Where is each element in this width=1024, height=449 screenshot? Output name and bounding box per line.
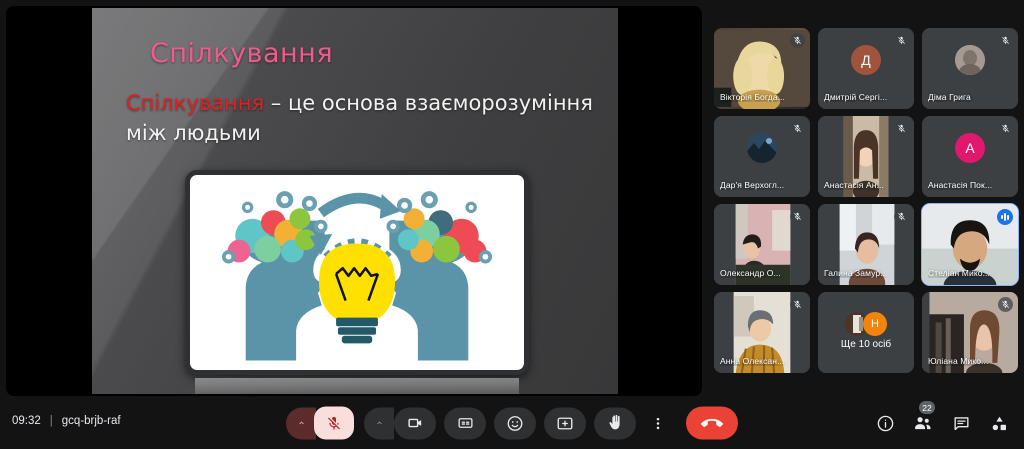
emoji-reactions-button[interactable] [494, 407, 536, 439]
more-options-button[interactable] [644, 407, 672, 439]
top-arrow-icon [321, 198, 388, 213]
participant-grid: Вікторія Богда... Д Дмитрій Сергі... [714, 28, 1018, 373]
people-icon [913, 413, 933, 433]
slide-illustration [185, 170, 529, 375]
avatar [747, 133, 777, 163]
slide-subtitle: Спілкування – це основа взаєморозуміння … [126, 88, 596, 148]
call-controls [286, 407, 738, 440]
more-vert-icon [650, 415, 666, 431]
participant-name: Анна Олексан... [720, 356, 794, 366]
communication-illustration-svg [190, 175, 524, 370]
meeting-time: 09:32 [12, 415, 41, 427]
mic-off-icon [894, 209, 909, 224]
slide-title: Спілкування [150, 38, 333, 69]
avatar-photo [747, 133, 777, 163]
participant-name: Дмитрій Сергі... [824, 92, 898, 102]
mic-options-chevron-button[interactable] [286, 407, 316, 439]
participant-tile[interactable]: Дар'я Верхогл... [714, 116, 810, 197]
show-everyone-button[interactable]: 22 [912, 412, 934, 434]
avatar: Д [851, 45, 881, 75]
meet-window: Спілкування Спілкування – це основа взає… [0, 0, 1024, 449]
participant-tile[interactable]: Галина Замур... [818, 204, 914, 285]
participant-tile[interactable]: Д Дмитрій Сергі... [818, 28, 914, 109]
participant-count-badge: 22 [919, 401, 935, 414]
chevron-up-icon [375, 419, 384, 428]
mic-off-icon [894, 121, 909, 136]
lightbulb-icon [319, 243, 395, 343]
slide-illustration-wrapper [185, 170, 529, 375]
chat-button[interactable] [950, 412, 972, 434]
emoji-smile-icon [506, 414, 524, 432]
participant-name: Діма Грига [928, 92, 1002, 102]
microphone-group [286, 407, 354, 440]
mic-off-icon [894, 33, 909, 48]
participant-tile[interactable]: Вікторія Богда... [714, 28, 810, 109]
illustration-reflection [195, 378, 519, 394]
speaking-indicator-icon [997, 209, 1013, 225]
closed-caption-icon [457, 415, 474, 432]
mic-off-icon [998, 33, 1013, 48]
meeting-details-button[interactable] [874, 412, 896, 434]
captions-button[interactable] [444, 407, 486, 439]
overflow-avatar-letter: Н [871, 318, 879, 330]
mic-off-icon [998, 121, 1013, 136]
participant-tile[interactable]: Діма Грига [922, 28, 1018, 109]
mic-off-icon [790, 33, 805, 48]
participant-tile[interactable]: А Анастасія Пок... [922, 116, 1018, 197]
activities-button[interactable] [988, 412, 1010, 434]
camera-options-chevron-button[interactable] [364, 407, 394, 439]
presentation-slide: Спілкування Спілкування – це основа взає… [92, 8, 618, 394]
overflow-avatar-initial: Н [863, 312, 887, 336]
mic-off-icon [790, 121, 805, 136]
present-to-all-icon [556, 414, 574, 432]
mic-off-icon [998, 297, 1013, 312]
end-call-icon [701, 412, 723, 434]
participant-name: Анастасія Ан... [824, 180, 898, 190]
meeting-code: gcq-brjb-raf [62, 415, 121, 427]
participant-name: Стеліан Мико... [928, 268, 1002, 278]
raise-hand-button[interactable] [594, 407, 636, 439]
participant-tile[interactable]: Олександр О... [714, 204, 810, 285]
bottom-bar: 09:32 | gcq-brjb-raf [0, 397, 1024, 449]
mic-off-icon [326, 415, 342, 431]
participant-name: Юліана Мико... [928, 356, 1002, 366]
microphone-muted-button[interactable] [314, 407, 354, 440]
participant-overflow-tile[interactable]: Н Ще 10 осіб [818, 292, 914, 373]
video-camera-icon [407, 415, 424, 432]
meta-separator: | [50, 415, 53, 427]
present-screen-button[interactable] [544, 407, 586, 439]
mic-off-icon [790, 297, 805, 312]
participant-tile[interactable]: Анна Олексан... [714, 292, 810, 373]
participant-tile-active-speaker[interactable]: Стеліан Мико... [922, 204, 1018, 285]
shared-screen-stage[interactable]: Спілкування Спілкування – це основа взає… [6, 6, 702, 396]
end-call-button[interactable] [686, 407, 738, 440]
chat-bubble-icon [952, 414, 971, 433]
participant-name: Дар'я Верхогл... [720, 180, 794, 190]
avatar-initial: А [965, 140, 974, 156]
raised-hand-icon [607, 415, 624, 432]
participant-name: Анастасія Пок... [928, 180, 1002, 190]
overflow-count-label: Ще 10 осіб [818, 339, 914, 350]
participant-name: Вікторія Богда... [720, 92, 794, 102]
avatar: А [955, 133, 985, 163]
participant-name: Галина Замур... [824, 268, 898, 278]
right-controls: 22 [874, 412, 1010, 434]
chevron-up-icon [297, 419, 306, 428]
mic-off-icon [790, 209, 805, 224]
camera-group [364, 407, 436, 439]
participant-tile[interactable]: Юліана Мико... [922, 292, 1018, 373]
meeting-meta: 09:32 | gcq-brjb-raf [12, 415, 121, 427]
participant-name: Олександр О... [720, 268, 794, 278]
avatar-photo [955, 45, 985, 75]
participant-tile[interactable]: Анастасія Ан... [818, 116, 914, 197]
avatar-initial: Д [861, 52, 870, 68]
activities-icon [990, 414, 1009, 433]
info-icon [876, 414, 895, 433]
camera-button[interactable] [394, 407, 436, 439]
slide-subtitle-highlight: Спілкування [126, 91, 264, 115]
overflow-avatars: Н [845, 312, 887, 336]
avatar [955, 45, 985, 75]
